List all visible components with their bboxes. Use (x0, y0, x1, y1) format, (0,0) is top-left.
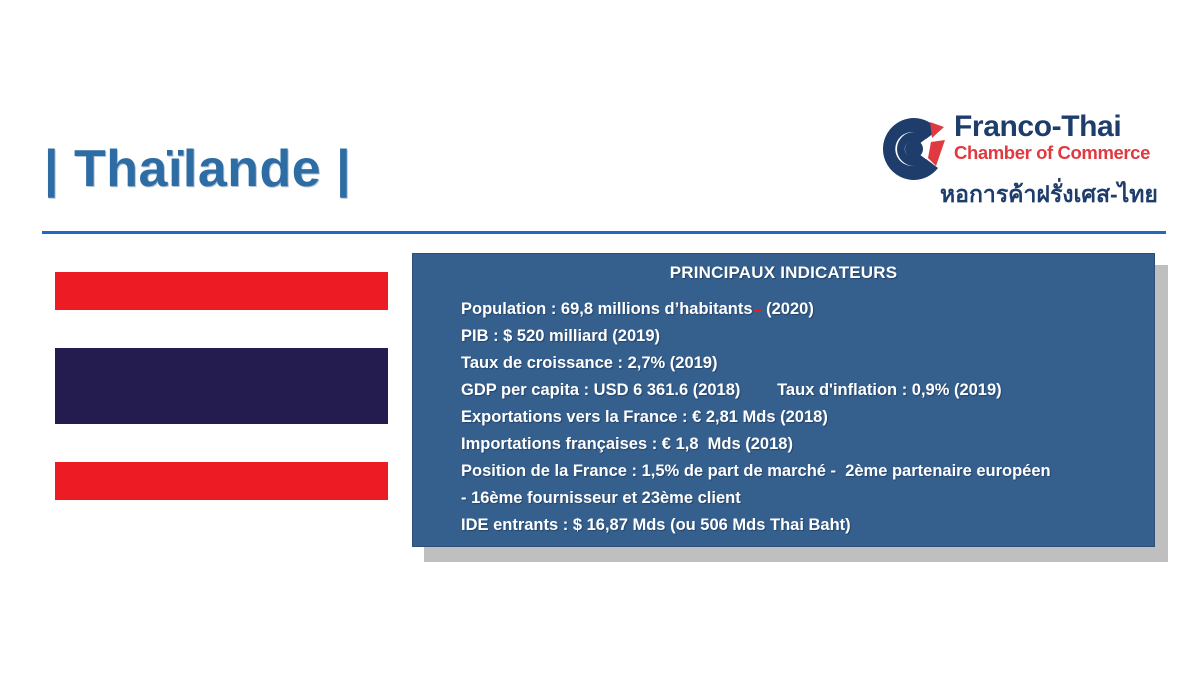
title-divider (42, 231, 1166, 234)
slide-root: | Thaïlande | Franco-Thai Chamber of Com… (0, 0, 1200, 675)
indicator-line-gdp-per-capita: GDP per capita : USD 6 361.6 (2018) Taux… (461, 377, 1144, 404)
logo-line-franco-thai: Franco-Thai (954, 112, 1162, 143)
franco-thai-logo: Franco-Thai Chamber of Commerce หอการค้า… (872, 108, 1162, 216)
indicator-line-exports: Exportations vers la France : € 2,81 Mds… (461, 404, 1144, 431)
spellcheck-mark-icon (754, 310, 761, 312)
indicator-line-imports: Importations françaises : € 1,8 Mds (201… (461, 431, 1144, 458)
thailand-flag (55, 272, 388, 500)
indicator-line-france-position: Position de la France : 1,5% de part de … (461, 458, 1144, 485)
indicator-line-growth-rate: Taux de croissance : 2,7% (2019) (461, 350, 1144, 377)
flag-band-red-top (55, 272, 388, 310)
indicator-line-france-position-cont: - 16ème fournisseur et 23ème client (461, 485, 1144, 512)
indicator-list: Population : 69,8 millions d’habitants (… (461, 296, 1144, 539)
flag-band-white-top (55, 310, 388, 348)
indicator-population-year: (2020) (762, 300, 814, 318)
logo-line-chamber-of-commerce: Chamber of Commerce (954, 143, 1162, 163)
page-title: | Thaïlande | (44, 143, 351, 195)
logo-wordmark: Franco-Thai Chamber of Commerce (954, 112, 1162, 163)
indicator-line-pib: PIB : $ 520 milliard (2019) (461, 323, 1144, 350)
cci-logo-mark (876, 114, 952, 184)
logo-line-thai: หอการค้าฝรั่งเศส-ไทย (940, 182, 1158, 207)
indicator-population-text: Population : 69,8 millions d’habitants (461, 300, 753, 318)
key-indicators-panel: PRINCIPAUX INDICATEURS Population : 69,8… (412, 253, 1155, 547)
indicator-line-population: Population : 69,8 millions d’habitants (… (461, 296, 1144, 323)
indicator-line-fdi: IDE entrants : $ 16,87 Mds (ou 506 Mds T… (461, 512, 1144, 539)
flag-band-white-bottom (55, 424, 388, 462)
flag-band-red-bottom (55, 462, 388, 500)
flag-band-navy (55, 348, 388, 424)
panel-title: PRINCIPAUX INDICATEURS (413, 263, 1154, 283)
